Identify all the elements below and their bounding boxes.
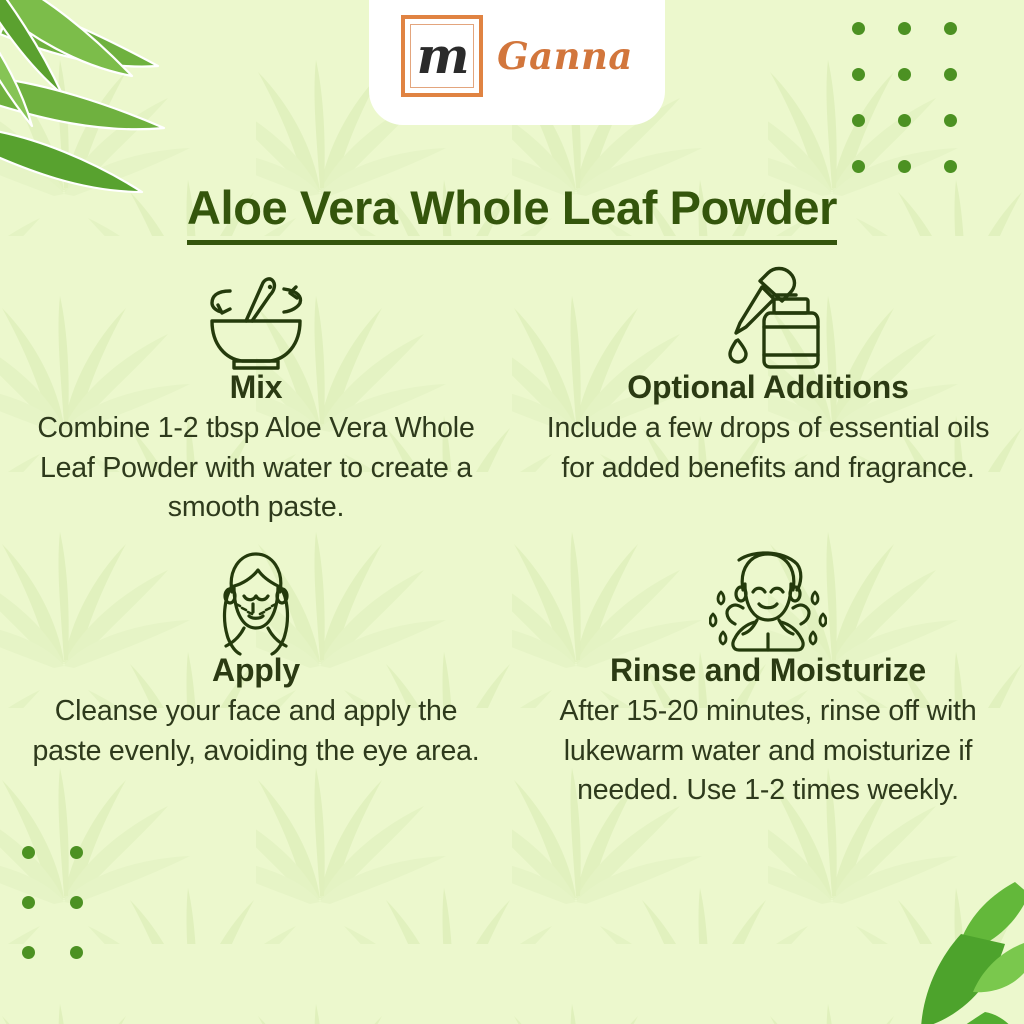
logo-frame-icon: m	[401, 15, 483, 97]
page-title-text: Aloe Vera Whole Leaf Powder	[187, 180, 837, 245]
step-title: Rinse and Moisturize	[534, 653, 1002, 688]
step-title: Optional Additions	[534, 370, 1002, 405]
green-leaves-decoration	[865, 872, 1024, 1024]
dot	[22, 846, 35, 859]
steps-grid: Mix Combine 1-2 tbsp Aloe Vera Whole Lea…	[0, 262, 1024, 810]
dot	[898, 68, 911, 81]
dot	[852, 160, 865, 173]
dot	[22, 946, 35, 959]
dot	[70, 846, 83, 859]
brand-logo-card: m Ganna	[369, 0, 665, 125]
dot	[852, 22, 865, 35]
step-card-optional-additions: Optional Additions Include a few drops o…	[512, 262, 1024, 527]
poster-canvas: m Ganna Aloe Vera Whole Leaf Powder	[0, 0, 1024, 1024]
dot	[70, 946, 83, 959]
face-washing-icon	[534, 545, 1002, 657]
page-title: Aloe Vera Whole Leaf Powder	[0, 180, 1024, 245]
step-card-rinse-and-moisturize: Rinse and Moisturize After 15-20 minutes…	[512, 545, 1024, 810]
step-title: Mix	[22, 370, 490, 405]
dot	[22, 896, 35, 909]
step-body: Combine 1-2 tbsp Aloe Vera Whole Leaf Po…	[36, 409, 476, 527]
dot	[898, 114, 911, 127]
brand-name: Ganna	[497, 34, 633, 78]
logo-letter: m	[417, 31, 468, 81]
dot	[944, 160, 957, 173]
aloe-leaves-decoration	[0, 0, 212, 210]
dot-grid-top-right	[852, 22, 990, 206]
dot	[944, 68, 957, 81]
step-card-apply: Apply Cleanse your face and apply the pa…	[0, 545, 512, 810]
face-mask-application-icon	[22, 545, 490, 657]
step-body: Include a few drops of essential oils fo…	[534, 409, 1002, 488]
dot	[898, 160, 911, 173]
dot	[70, 896, 83, 909]
mortar-and-pestle-icon	[22, 262, 490, 374]
step-title: Apply	[22, 653, 490, 688]
dot	[944, 22, 957, 35]
step-body: Cleanse your face and apply the paste ev…	[31, 692, 481, 771]
step-card-mix: Mix Combine 1-2 tbsp Aloe Vera Whole Lea…	[0, 262, 512, 527]
step-body: After 15-20 minutes, rinse off with luke…	[546, 692, 991, 810]
dot	[852, 68, 865, 81]
dropper-bottle-icon	[534, 262, 1002, 374]
dot	[944, 114, 957, 127]
dot	[852, 114, 865, 127]
dot	[898, 22, 911, 35]
dot-grid-bottom-left	[22, 846, 118, 996]
